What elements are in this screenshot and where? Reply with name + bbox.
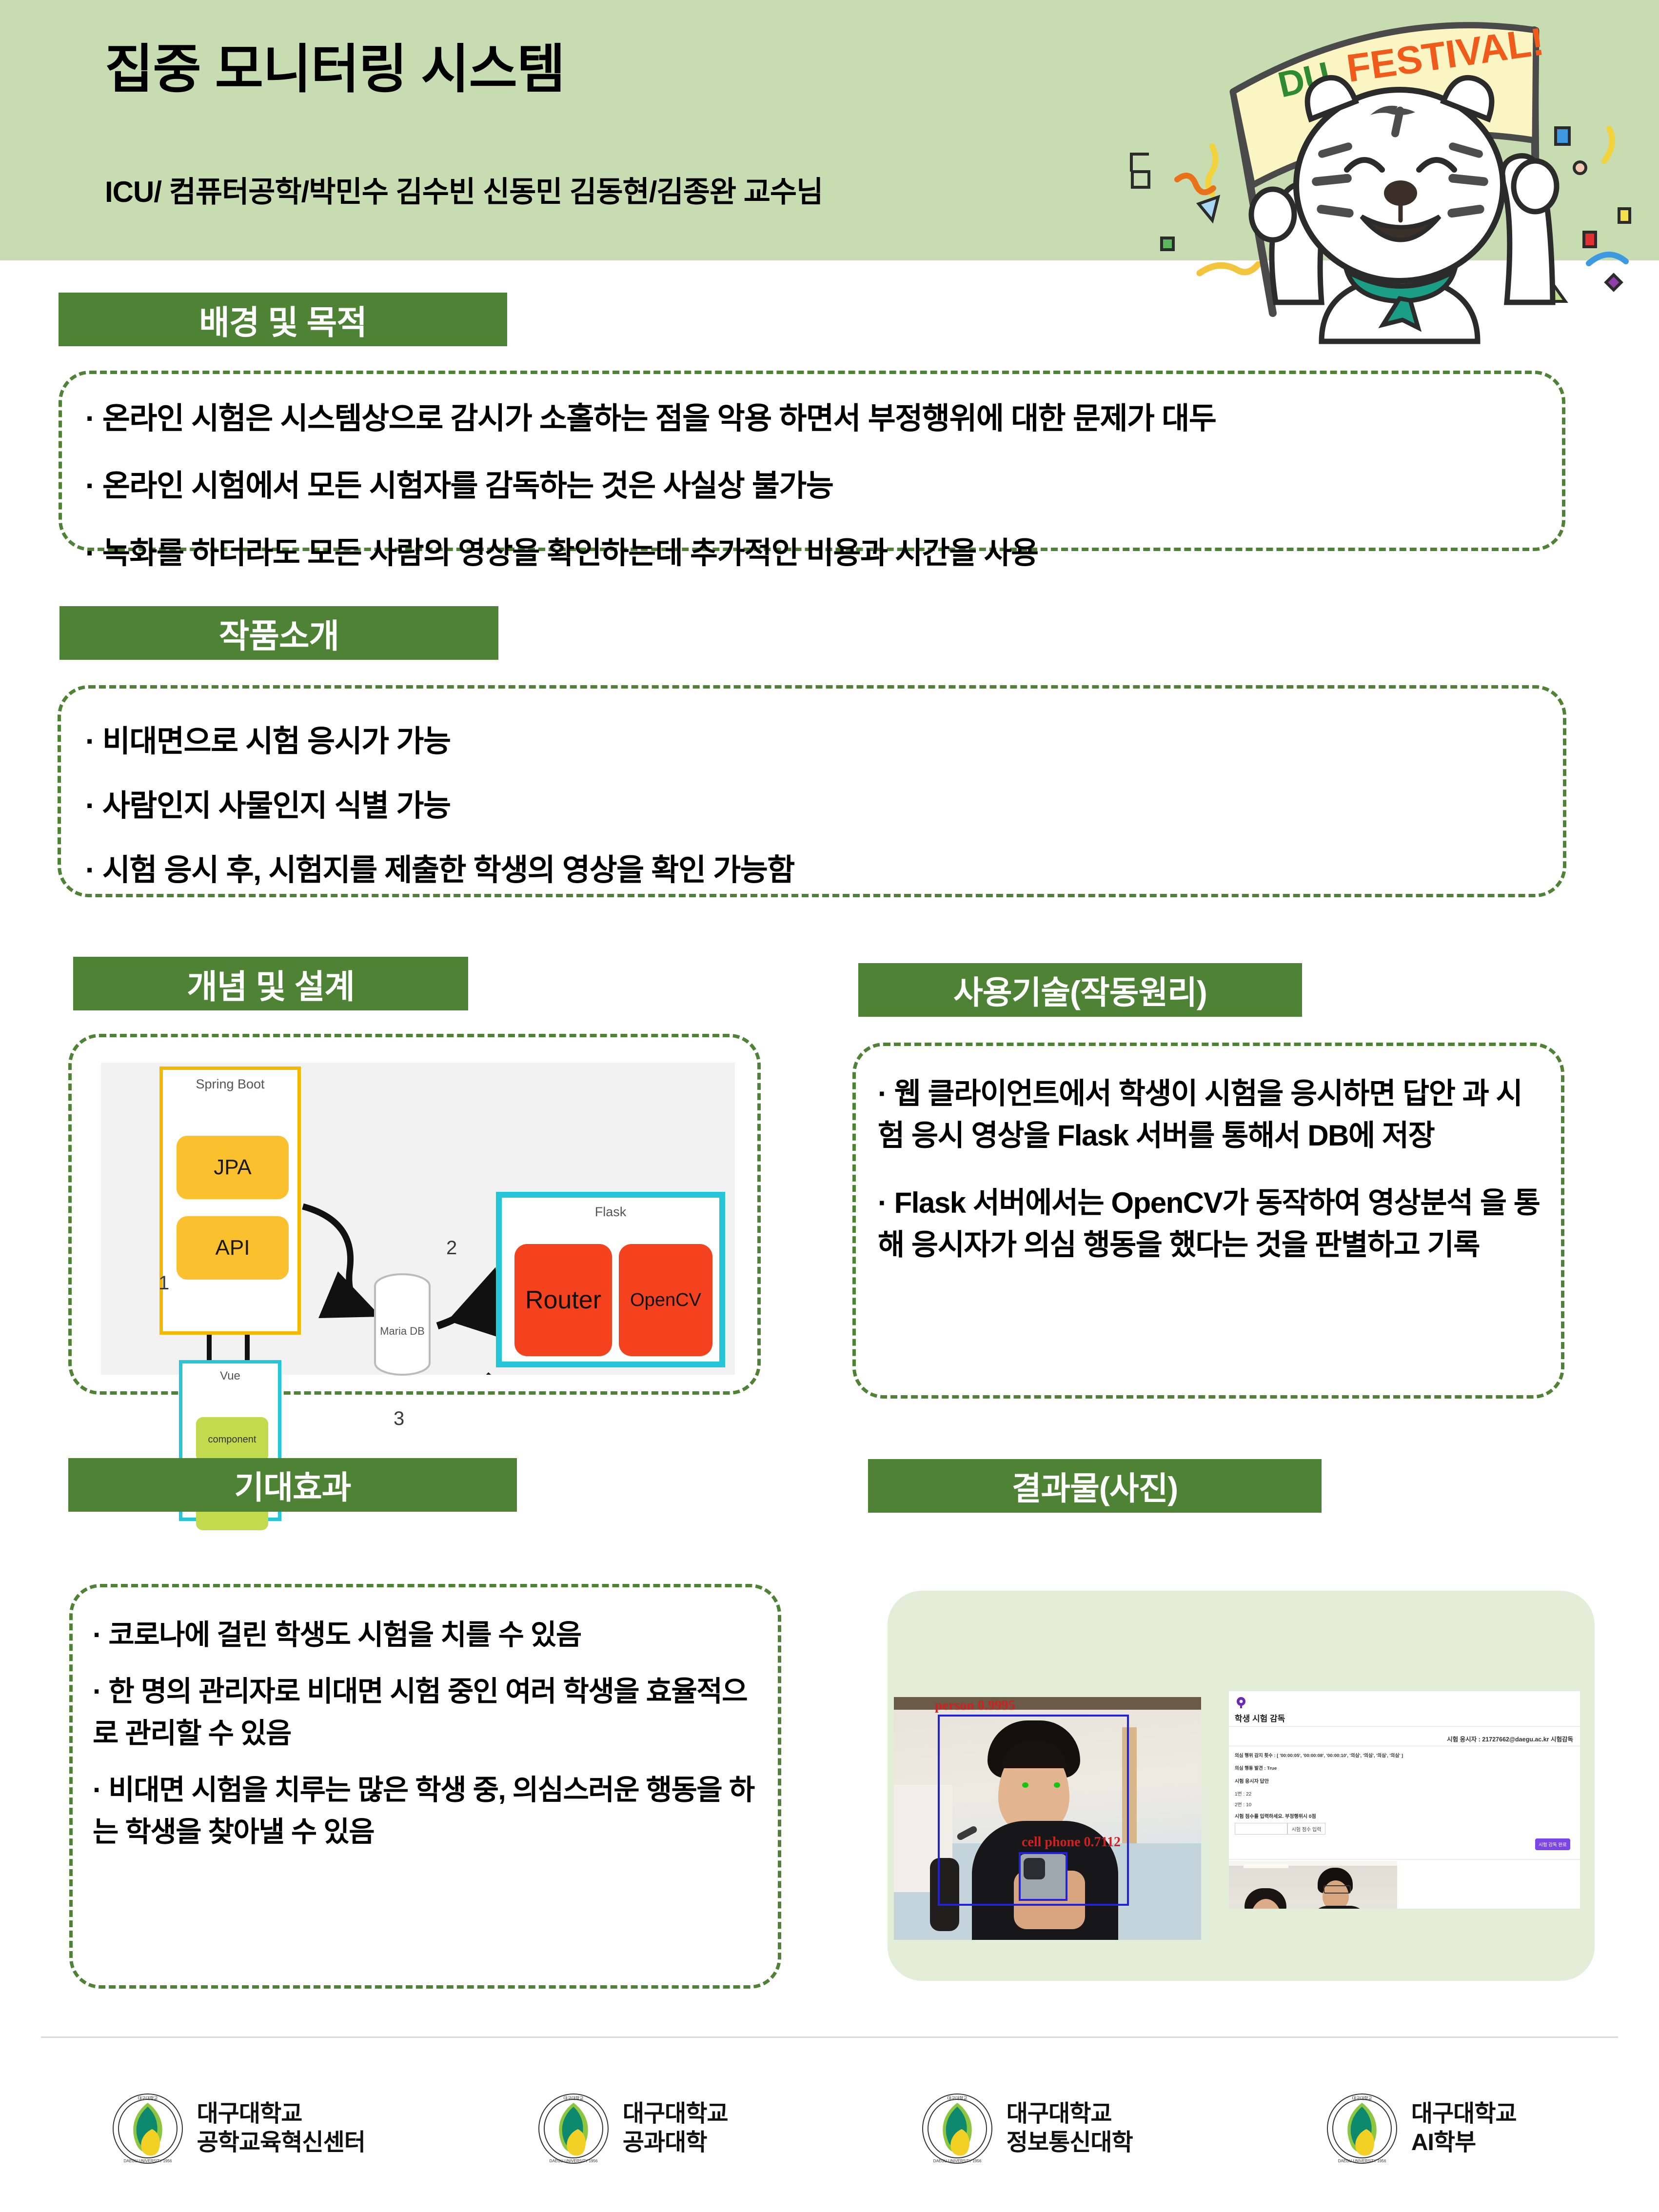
diagram-vue-label: Vue (182, 1369, 278, 1383)
admin-detected-line: 의심 행동 발견 : True (1235, 1764, 1277, 1771)
page-subtitle: ICU/ 컴퓨터공학/박민수 김수빈 신동민 김동현/김종완 교수님 (105, 168, 823, 211)
score-submit-button[interactable]: 시험 점수 입력 (1287, 1823, 1325, 1835)
diagram-opencv-node: OpenCV (619, 1244, 712, 1356)
section-header-effect: 기대효과 (68, 1458, 517, 1512)
bullet-item: · 시험 응시 후, 시험지를 제출한 학생의 영상을 확인 가능함 (85, 838, 1553, 903)
diagram-vue-component-node: component (196, 1417, 268, 1462)
footer-logo-text: 대구대학교 공학교육혁신센터 (197, 2100, 365, 2157)
bullet-item: · 비대면으로 시험 응시가 가능 (85, 710, 1553, 774)
footer-divider (41, 2036, 1618, 2038)
diagram-database-label: Maria DB (380, 1325, 425, 1337)
finish-supervision-button[interactable]: 시험 감독 완료 (1535, 1838, 1570, 1850)
admin-answer-1: 1번 : 22 (1235, 1790, 1251, 1797)
mascot-tiger: DU FESTIVAL! (1126, 0, 1659, 371)
footer-logo-line2: AI학부 (1411, 2129, 1517, 2157)
bullets-intro: · 비대면으로 시험 응시가 가능 · 사람인지 사물인지 식별 가능 · 시험… (85, 710, 1553, 903)
bullet-item: · 온라인 시험은 시스템상으로 감시가 소홀하는 점을 악용 하면서 부정행위… (85, 385, 1553, 453)
eye-marker (1022, 1782, 1028, 1788)
footer-logo-line2: 정보통신대학 (1007, 2129, 1133, 2157)
svg-text:대구대학교: 대구대학교 (947, 2096, 967, 2101)
diagram-flow-number-3: 3 (394, 1408, 404, 1430)
video-thumbnail[interactable]: 0:05 / 0:06 (1229, 1861, 1397, 1909)
footer-logo-row: 대구대학교 DAEGU UNIVERSITY 1956 대구대학교 공학교육혁신… (41, 2063, 1618, 2194)
daegu-university-seal-icon: 대구대학교 DAEGU UNIVERSITY 1956 (1325, 2092, 1399, 2165)
svg-text:대구대학교: 대구대학교 (138, 2096, 158, 2101)
eye-marker (1054, 1782, 1060, 1788)
footer-logo-line1: 대구대학교 (197, 2100, 365, 2129)
diagram-spring-boot-box: Spring Boot JPA API (159, 1066, 301, 1335)
section-header-intro: 작품소개 (59, 606, 498, 660)
diagram-flow-number-2: 2 (446, 1237, 457, 1259)
svg-text:DAEGU UNIVERSITY 1956: DAEGU UNIVERSITY 1956 (550, 2159, 598, 2163)
bullet-item: · 녹화를 하더라도 모든 사람의 영상을 확인하는데 추가적인 비용과 시간을… (85, 520, 1553, 587)
diagram-jpa-node: JPA (177, 1136, 289, 1199)
bullet-item: · 사람인지 사물인지 식별 가능 (85, 774, 1553, 838)
content-box-design: Spring Boot JPA API Vue component View M… (68, 1034, 761, 1395)
detection-box-phone (1019, 1852, 1067, 1901)
score-input[interactable] (1235, 1823, 1287, 1835)
footer-logo-text: 대구대학교 AI학부 (1411, 2100, 1517, 2157)
diagram-flow-number-1: 1 (158, 1272, 169, 1294)
detection-photo: person 0.9995 cell phone 0.7112 (894, 1697, 1201, 1940)
bullet-item: · 비대면 시험을 치루는 많은 학생 중, 의심스러운 행동을 하는 학생을 … (93, 1769, 761, 1853)
bullets-effect: · 코로나에 걸린 학생도 시험을 치를 수 있음 · 한 명의 관리자로 비대… (93, 1614, 761, 1853)
footer-logo-line2: 공학교육혁신센터 (197, 2129, 365, 2157)
diagram-api-node: API (177, 1216, 289, 1280)
section-header-result: 결과물(사진) (868, 1459, 1322, 1513)
admin-detect-count-line: 의심 행위 감지 횟수 : [ '00:00:05', '00:00:08', … (1235, 1752, 1403, 1758)
diagram-flask-box: Flask Router OpenCV (496, 1192, 725, 1367)
svg-text:DAEGU UNIVERSITY 1956: DAEGU UNIVERSITY 1956 (933, 2159, 981, 2163)
admin-screenshot: 학생 시험 감독 시험 응시자 : 21727662@daegu.ac.kr 시… (1229, 1691, 1580, 1909)
svg-text:대구대학교: 대구대학교 (1352, 2096, 1372, 2101)
svg-text:DAEGU UNIVERSITY 1956: DAEGU UNIVERSITY 1956 (1338, 2159, 1386, 2163)
diagram-database-node: Maria DB (372, 1273, 433, 1376)
svg-text:DAEGU UNIVERSITY 1956: DAEGU UNIVERSITY 1956 (123, 2159, 172, 2163)
page-title: 집중 모니터링 시스템 (105, 27, 565, 103)
section-header-design: 개념 및 설계 (73, 957, 468, 1010)
bullets-background: · 온라인 시험은 시스템상으로 감시가 소홀하는 점을 악용 하면서 부정행위… (85, 385, 1553, 587)
bullet-item: · 코로나에 걸린 학생도 시험을 치를 수 있음 (93, 1614, 761, 1656)
daegu-university-seal-icon: 대구대학교 DAEGU UNIVERSITY 1956 (537, 2092, 610, 2165)
footer-logo-line1: 대구대학교 (623, 2100, 728, 2129)
svg-text:대구대학교: 대구대학교 (563, 2096, 583, 2101)
section-header-background: 배경 및 목적 (59, 293, 507, 346)
footer-logo-2: 대구대학교 DAEGU UNIVERSITY 1956 대구대학교 정보통신대학 (829, 2063, 1224, 2194)
brand-logo-icon (1235, 1696, 1247, 1709)
footer-logo-0: 대구대학교 DAEGU UNIVERSITY 1956 대구대학교 공학교육혁신… (41, 2063, 435, 2194)
bullet-item: · Flask 서버에서는 OpenCV가 동작하여 영상분석 을 통해 응시자… (878, 1182, 1541, 1266)
diagram-spring-boot-label: Spring Boot (163, 1077, 297, 1092)
section-header-tech: 사용기술(작동원리) (858, 963, 1302, 1017)
admin-answer-2: 2번 : 10 (1235, 1800, 1251, 1808)
daegu-university-seal-icon: 대구대학교 DAEGU UNIVERSITY 1956 (921, 2092, 994, 2165)
footer-logo-3: 대구대학교 DAEGU UNIVERSITY 1956 대구대학교 AI학부 (1224, 2063, 1619, 2194)
footer-logo-line1: 대구대학교 (1007, 2100, 1133, 2129)
diagram-router-node: Router (514, 1244, 612, 1356)
admin-answers-title: 시험 응시자 답안 (1235, 1777, 1269, 1784)
bullet-item: · 한 명의 관리자로 비대면 시험 중인 여러 학생을 효율적으로 관리할 수… (93, 1671, 761, 1755)
bullets-tech: · 웹 클라이언트에서 학생이 시험을 응시하면 답안 과 시험 응시 영상을 … (878, 1073, 1541, 1266)
admin-page-title: 학생 시험 감독 (1235, 1712, 1285, 1724)
result-photo-panel: person 0.9995 cell phone 0.7112 학생 시험 감독… (888, 1591, 1595, 1981)
daegu-university-seal-icon: 대구대학교 DAEGU UNIVERSITY 1956 (111, 2092, 184, 2165)
detection-label-phone: cell phone 0.7112 (1022, 1835, 1121, 1850)
footer-logo-text: 대구대학교 정보통신대학 (1007, 2100, 1133, 2157)
detection-label-person: person 0.9995 (935, 1698, 1015, 1714)
footer-logo-text: 대구대학교 공과대학 (623, 2100, 728, 2157)
footer-logo-line2: 공과대학 (623, 2129, 728, 2157)
tiger-mascot-icon: DU FESTIVAL! (1126, 0, 1659, 371)
bullet-item: · 웹 클라이언트에서 학생이 시험을 응시하면 답안 과 시험 응시 영상을 … (878, 1073, 1541, 1157)
bullet-item: · 온라인 시험에서 모든 시험자를 감독하는 것은 사실상 불가능 (85, 453, 1553, 520)
admin-score-prompt: 시험 점수를 입력하세요. 부정행위시 0점 (1235, 1812, 1316, 1819)
database-cylinder-icon: Maria DB (372, 1273, 433, 1376)
architecture-diagram: Spring Boot JPA API Vue component View M… (101, 1063, 735, 1375)
poster-root: 집중 모니터링 시스템 ICU/ 컴퓨터공학/박민수 김수빈 신동민 김동현/김… (0, 0, 1659, 2212)
footer-logo-1: 대구대학교 DAEGU UNIVERSITY 1956 대구대학교 공과대학 (435, 2063, 830, 2194)
footer-logo-line1: 대구대학교 (1411, 2100, 1517, 2129)
diagram-flask-label: Flask (502, 1205, 719, 1220)
admin-examinee-line: 시험 응시자 : 21727662@daegu.ac.kr 시험감독 (1447, 1734, 1573, 1743)
